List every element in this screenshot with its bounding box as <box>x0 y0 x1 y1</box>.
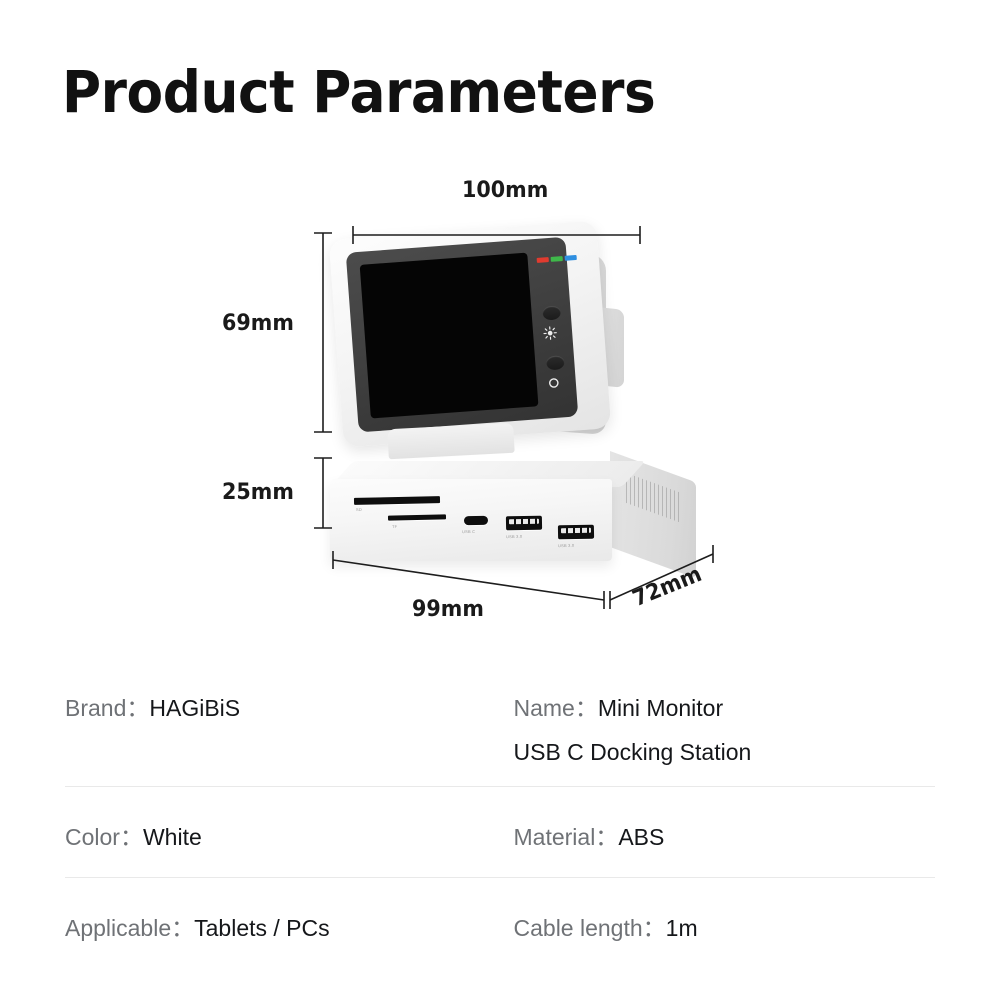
spec-row-color-material: Color：White Material：ABS <box>65 787 935 878</box>
page-title: Product Parameters <box>62 58 655 126</box>
spec-value-brand: HAGiBiS <box>149 695 240 721</box>
monitor-outer-bezel <box>329 220 612 447</box>
monitor-inner-frame <box>346 237 579 433</box>
spec-table: Brand：HAGiBiS Name：Mini Monitor USB C Do… <box>65 672 935 958</box>
sd-card-slot-label: SD <box>356 507 362 512</box>
spec-cell-cable-length: Cable length：1m <box>487 906 936 958</box>
spec-key-name: Name： <box>514 695 598 721</box>
dock-front-face: SD TF USB C USB 3.0 USB 3.0 <box>330 479 612 561</box>
spec-key-color: Color： <box>65 824 143 850</box>
dimension-label-width-base: 99mm <box>412 597 484 622</box>
spec-cell-material: Material：ABS <box>487 815 936 878</box>
spec-cell-applicable: Applicable：Tablets / PCs <box>65 906 487 958</box>
indicator-green-icon <box>551 256 563 262</box>
usb-c-port <box>464 516 488 525</box>
dimension-label-height-dock: 25mm <box>222 480 294 505</box>
spec-value-name: Mini Monitor <box>598 695 723 721</box>
spec-cell-brand: Brand：HAGiBiS <box>65 686 487 787</box>
spec-value-material: ABS <box>618 824 664 850</box>
indicator-blue-icon <box>565 255 577 261</box>
spec-row-brand-name: Brand：HAGiBiS Name：Mini Monitor USB C Do… <box>65 672 935 787</box>
rgb-indicator-strip <box>537 255 577 263</box>
spec-key-brand: Brand： <box>65 695 149 721</box>
docking-station-base: SD TF USB C USB 3.0 USB 3.0 <box>320 455 720 585</box>
microsd-card-slot-label: TF <box>392 524 397 529</box>
dimension-label-width-top: 100mm <box>462 178 548 203</box>
usb-c-port-label: USB C <box>462 529 475 534</box>
spec-cell-color: Color：White <box>65 815 487 878</box>
spec-cell-name: Name：Mini Monitor USB C Docking Station <box>487 686 936 787</box>
usb-a-port-1-tongue <box>509 519 539 525</box>
product-illustration: SD TF USB C USB 3.0 USB 3.0 <box>0 150 1000 650</box>
usb-a-port-2 <box>558 525 594 540</box>
spec-value-applicable: Tablets / PCs <box>194 915 330 941</box>
monitor-screen <box>360 253 539 419</box>
usb-a-port-1 <box>506 516 542 531</box>
monitor-stand-neck <box>387 423 514 460</box>
sd-card-slot <box>354 496 440 505</box>
usb-a-port-1-label: USB 3.0 <box>506 534 522 539</box>
ventilation-grille <box>626 473 680 523</box>
spec-value-cable-length: 1m <box>666 915 698 941</box>
indicator-red-icon <box>537 257 549 263</box>
power-button[interactable] <box>546 355 565 370</box>
mini-monitor <box>330 230 660 470</box>
spec-key-applicable: Applicable： <box>65 915 194 941</box>
spec-value-color: White <box>143 824 202 850</box>
brightness-sun-icon <box>543 326 558 341</box>
dimension-label-height-monitor: 69mm <box>222 311 294 336</box>
spec-row-applicable-cable: Applicable：Tablets / PCs Cable length：1m <box>65 878 935 958</box>
power-circle-icon <box>546 375 561 390</box>
brightness-button[interactable] <box>542 305 561 320</box>
spec-key-material: Material： <box>514 824 619 850</box>
usb-a-port-2-tongue <box>561 528 591 534</box>
microsd-card-slot <box>388 514 446 520</box>
usb-a-port-2-label: USB 3.0 <box>558 543 574 548</box>
spec-value-name-line2: USB C Docking Station <box>514 730 936 774</box>
spec-key-cable-length: Cable length： <box>514 915 666 941</box>
